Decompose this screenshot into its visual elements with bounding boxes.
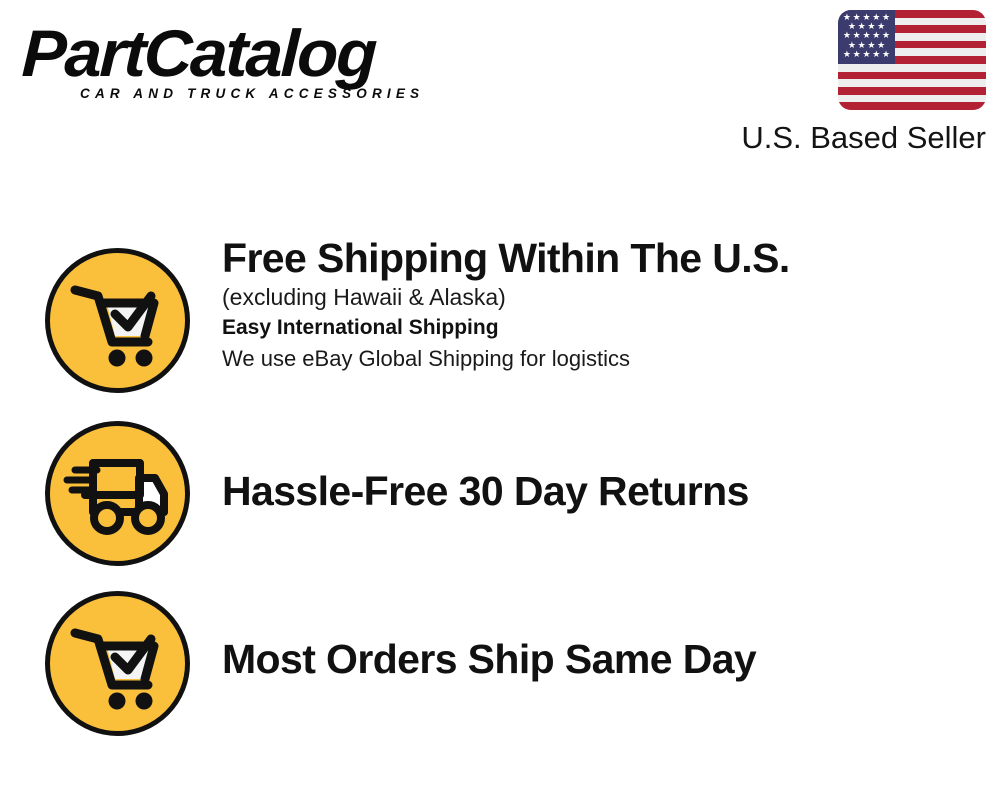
feature-title: Hassle-Free 30 Day Returns	[222, 467, 990, 515]
us-flag-icon: ★★★★★ ★★★★ ★★★★★ ★★★★ ★★★★★	[838, 10, 986, 110]
us-based-seller-label: U.S. Based Seller	[726, 120, 986, 156]
feature-text: Free Shipping Within The U.S. (excluding…	[222, 234, 990, 374]
feature-row: Most Orders Ship Same Day	[0, 591, 1000, 763]
feature-list: Free Shipping Within The U.S. (excluding…	[0, 248, 1000, 763]
us-based-seller-badge: ★★★★★ ★★★★ ★★★★★ ★★★★ ★★★★★ U.S. Based S…	[726, 10, 986, 156]
feature-text: Hassle-Free 30 Day Returns	[222, 467, 990, 515]
feature-note-line: We use eBay Global Shipping for logistic…	[222, 343, 990, 374]
flag-star-row: ★★★★★	[842, 51, 891, 60]
delivery-truck-icon	[45, 421, 190, 566]
promo-banner: PartCatalog CAR AND TRUCK ACCESSORIES ★★…	[0, 0, 1000, 800]
brand-logo: PartCatalog CAR AND TRUCK ACCESSORIES	[22, 18, 492, 101]
feature-row: Hassle-Free 30 Day Returns	[0, 421, 1000, 591]
feature-row: Free Shipping Within The U.S. (excluding…	[0, 248, 1000, 421]
shopping-cart-check-icon	[45, 591, 190, 736]
feature-icon-wrap	[45, 421, 190, 566]
feature-subtitle: (excluding Hawaii & Alaska)	[222, 282, 990, 313]
feature-title: Free Shipping Within The U.S.	[222, 234, 990, 282]
feature-title: Most Orders Ship Same Day	[222, 635, 990, 683]
flag-canton: ★★★★★ ★★★★ ★★★★★ ★★★★ ★★★★★	[838, 10, 895, 64]
feature-text: Most Orders Ship Same Day	[222, 635, 990, 683]
feature-strong-line: Easy International Shipping	[222, 313, 990, 343]
brand-wordmark: PartCatalog	[21, 18, 503, 88]
shopping-cart-check-icon	[45, 248, 190, 393]
feature-icon-wrap	[45, 248, 190, 393]
feature-icon-wrap	[45, 591, 190, 736]
